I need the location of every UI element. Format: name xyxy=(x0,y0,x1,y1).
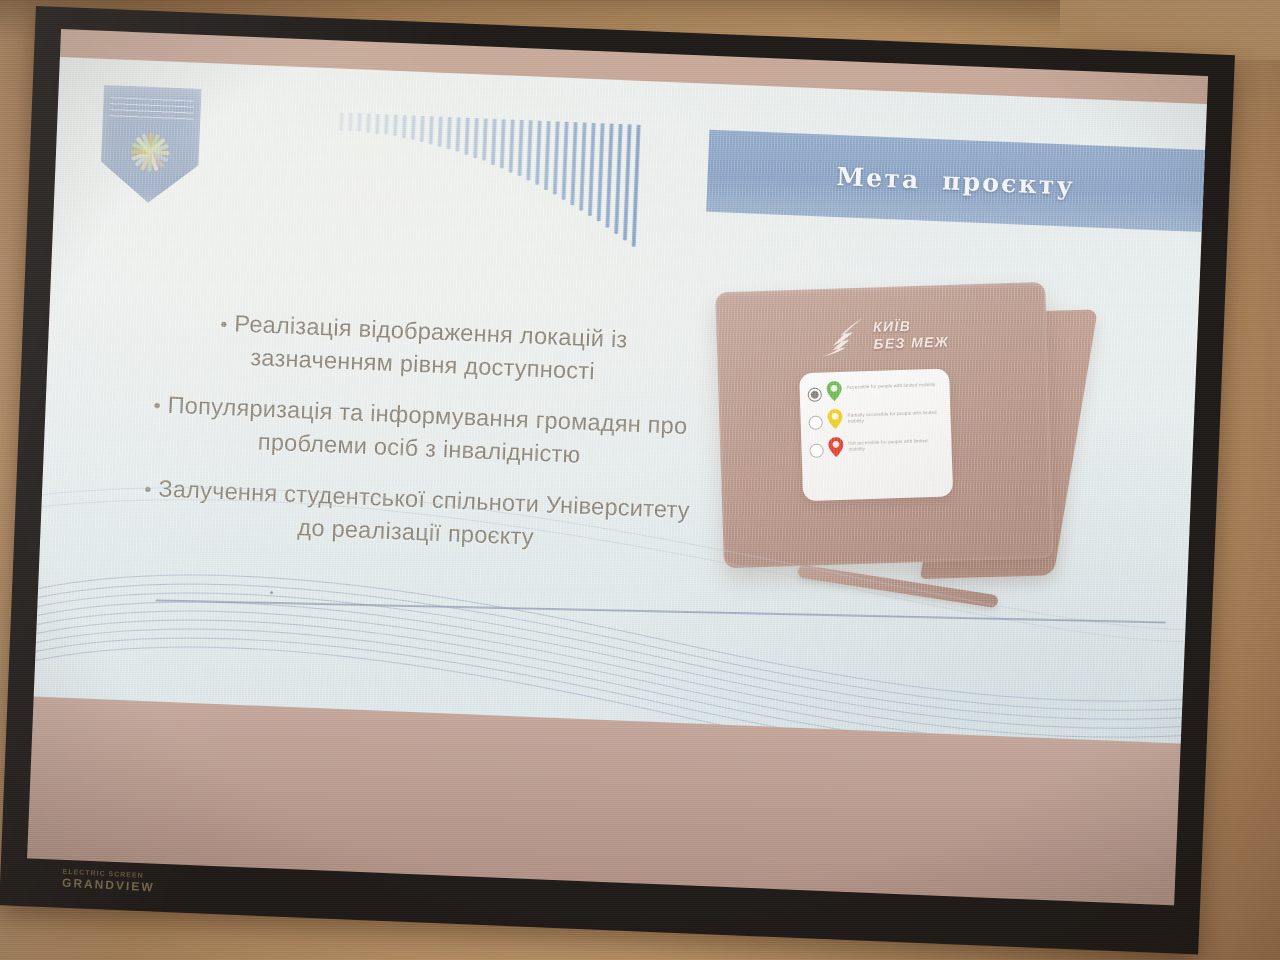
list-item: • Популяризація та інформування громадян… xyxy=(104,387,736,477)
bullet-2-line-1: Популяризація та інформування громадян п… xyxy=(167,392,688,439)
bullet-marker: • xyxy=(220,314,228,336)
app-logo-line-2: БЕЗ МЕЖ xyxy=(873,333,949,351)
header-stripe xyxy=(632,125,641,247)
header-stripe xyxy=(429,116,434,144)
header-stripe xyxy=(553,121,560,194)
header-stripe xyxy=(384,114,389,135)
header-stripe xyxy=(420,116,425,142)
header-stripe xyxy=(393,115,398,137)
option-label-partially-accessible: Partially accessible for people with lim… xyxy=(847,406,943,425)
header-stripe xyxy=(411,116,416,140)
map-pin-red-icon xyxy=(828,437,844,457)
option-row-not-accessible[interactable]: Not accessible for people with limited m… xyxy=(809,434,945,458)
emblem-text-lines xyxy=(109,97,194,122)
radio-accessible[interactable] xyxy=(808,388,822,402)
slide-title: Мета проєкту xyxy=(706,130,1205,232)
projection-screen-area: Мета проєкту • Реалізація відображення л… xyxy=(0,0,1280,960)
emblem-sunburst-icon xyxy=(122,128,178,176)
option-label-accessible: Accessible for people with limited mobil… xyxy=(846,378,935,391)
header-stripe xyxy=(455,117,460,151)
header-stripe xyxy=(348,113,353,131)
swallow-bird-icon xyxy=(819,316,866,357)
header-stripe xyxy=(605,124,613,228)
header-stripe xyxy=(366,114,371,133)
header-stripe xyxy=(339,113,344,131)
header-stripe xyxy=(500,119,506,168)
map-pin-yellow-icon xyxy=(827,409,843,429)
projector-screen-surface: Мета проєкту • Реалізація відображення л… xyxy=(27,29,1208,905)
bullet-2-line-2: проблеми осіб з інвалідністю xyxy=(257,428,580,467)
option-label-not-accessible: Not accessible for people with limited m… xyxy=(848,434,944,453)
projector-screen-frame: Мета проєкту • Реалізація відображення л… xyxy=(0,6,1235,954)
presentation-slide: Мета проєкту • Реалізація відображення л… xyxy=(34,57,1207,744)
radio-partially-accessible[interactable] xyxy=(808,416,822,430)
header-stripe xyxy=(375,114,380,134)
header-stripe xyxy=(597,123,605,221)
header-stripe xyxy=(570,122,577,205)
screen-brand-label: ELECTRIC SCREEN GRANDVIEW xyxy=(61,869,282,908)
header-stripe xyxy=(438,117,443,147)
app-logo-line-1: КИЇВ xyxy=(873,318,912,335)
option-row-partially-accessible[interactable]: Partially accessible for people with lim… xyxy=(808,406,944,430)
header-stripe xyxy=(517,120,523,176)
small-dot-mark xyxy=(270,591,273,594)
header-stripe xyxy=(357,113,362,132)
header-stripe xyxy=(579,123,587,211)
bullet-marker: • xyxy=(153,395,161,417)
header-stripe xyxy=(509,120,515,173)
university-emblem xyxy=(95,85,206,205)
header-stripe xyxy=(623,124,632,240)
header-stripe xyxy=(535,121,542,185)
header-stripe xyxy=(482,118,488,161)
header-stripe xyxy=(588,123,596,216)
app-logo: КИЇВ БЕЗ МЕЖ xyxy=(818,301,990,368)
radio-not-accessible[interactable] xyxy=(809,444,823,458)
header-stripe xyxy=(464,118,470,155)
map-pin-green-icon xyxy=(826,381,842,401)
header-stripe xyxy=(562,122,569,200)
header-stripe xyxy=(473,118,479,158)
bullet-1-line-2: зазначенням рівня доступності xyxy=(250,344,595,384)
header-stripe xyxy=(402,115,407,138)
header-stripe xyxy=(544,121,551,190)
header-stripe xyxy=(526,120,532,180)
header-stripe xyxy=(491,119,497,165)
app-logo-text: КИЇВ БЕЗ МЕЖ xyxy=(873,316,950,352)
option-row-accessible[interactable]: Accessible for people with limited mobil… xyxy=(807,378,943,402)
header-stripe-decoration xyxy=(335,113,746,252)
list-item: • Реалізація відображення локацій із заз… xyxy=(107,303,739,393)
accessibility-filter-card: Accessible for people with limited mobil… xyxy=(799,368,953,501)
header-stripe xyxy=(614,124,622,234)
wave-decoration xyxy=(34,467,1190,744)
header-stripe xyxy=(446,117,451,149)
